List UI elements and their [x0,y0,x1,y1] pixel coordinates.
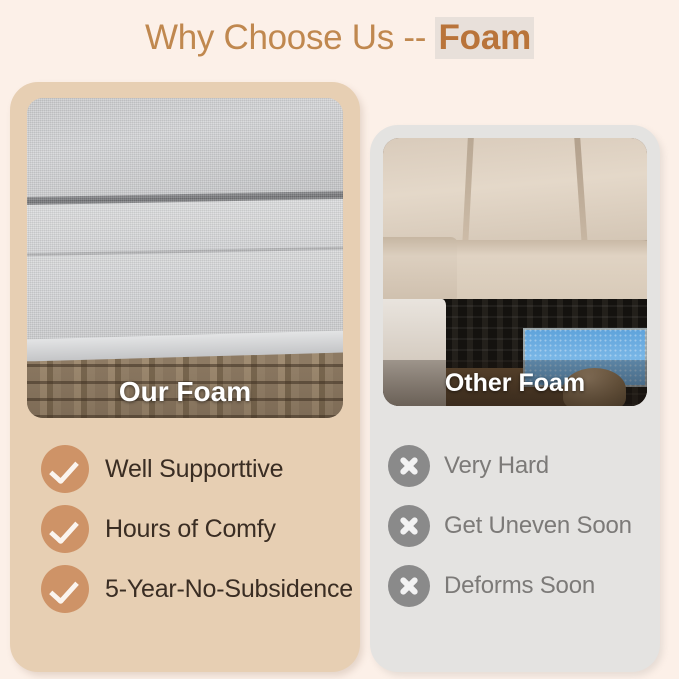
feature-label: 5-Year-No-Subsidence [105,575,353,604]
x-circle-icon [388,505,430,547]
list-item: Very Hard [388,436,650,496]
page-title-normal: Why Choose Us -- [145,18,436,57]
feature-label: Very Hard [444,452,549,480]
other-foam-card: Other Foam Very Hard Get Uneven Soon Def… [370,125,660,672]
list-item: 5-Year-No-Subsidence [41,559,351,619]
x-circle-icon [388,565,430,607]
our-foam-card: Our Foam Well Supporttive Hours of Comfy… [10,82,360,672]
feature-label: Hours of Comfy [105,515,276,544]
feature-label: Get Uneven Soon [444,512,632,540]
page-title-accent: Foam [435,17,534,59]
our-foam-photo: Our Foam [27,98,343,418]
our-foam-feature-list: Well Supporttive Hours of Comfy 5-Year-N… [41,439,351,619]
feature-label: Well Supporttive [105,455,283,484]
feature-label: Deforms Soon [444,572,595,600]
our-foam-photo-label: Our Foam [27,366,343,418]
page-title: Why Choose Us -- Foam [0,18,679,58]
other-photo-seat-cushion-left [383,237,457,301]
check-circle-icon [41,505,89,553]
other-foam-photo: Other Foam [383,138,647,406]
other-foam-feature-list: Very Hard Get Uneven Soon Deforms Soon [388,436,650,616]
check-circle-icon [41,445,89,493]
our-photo-fabric-texture [27,98,343,360]
other-foam-photo-label: Other Foam [383,360,647,406]
x-circle-icon [388,445,430,487]
check-circle-icon [41,565,89,613]
list-item: Deforms Soon [388,556,650,616]
list-item: Hours of Comfy [41,499,351,559]
other-photo-backrest [383,138,647,245]
list-item: Get Uneven Soon [388,496,650,556]
list-item: Well Supporttive [41,439,351,499]
